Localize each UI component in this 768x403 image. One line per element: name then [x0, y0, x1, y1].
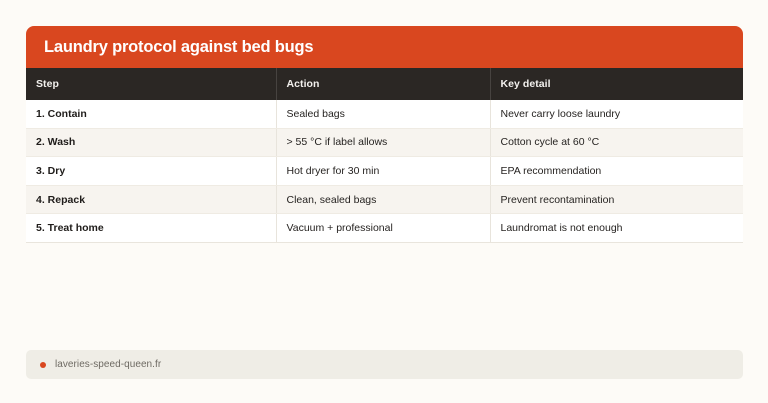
cell-step: 4. Repack [26, 185, 276, 214]
cell-key-detail: Laundromat is not enough [490, 214, 743, 243]
column-header-key-detail[interactable]: Key detail [490, 68, 743, 100]
cell-step: 2. Wash [26, 128, 276, 157]
table-head: Step Action Key detail [26, 68, 743, 100]
cell-action: > 55 °C if label allows [276, 128, 490, 157]
cell-step: 3. Dry [26, 157, 276, 186]
cell-step: 1. Contain [26, 100, 276, 128]
table-header-row: Step Action Key detail [26, 68, 743, 100]
source-domain-label[interactable]: laveries-speed-queen.fr [55, 359, 161, 370]
table-row: 4. Repack Clean, sealed bags Prevent rec… [26, 185, 743, 214]
cell-action: Hot dryer for 30 min [276, 157, 490, 186]
page-root: Laundry protocol against bed bugs Step A… [0, 0, 768, 403]
card-header: Laundry protocol against bed bugs [26, 26, 743, 68]
table-row: 2. Wash > 55 °C if label allows Cotton c… [26, 128, 743, 157]
column-header-action[interactable]: Action [276, 68, 490, 100]
cell-key-detail: Prevent recontamination [490, 185, 743, 214]
table-row: 1. Contain Sealed bags Never carry loose… [26, 100, 743, 128]
cell-key-detail: Cotton cycle at 60 °C [490, 128, 743, 157]
protocol-card: Laundry protocol against bed bugs Step A… [26, 26, 743, 243]
cell-action: Sealed bags [276, 100, 490, 128]
cell-action: Vacuum + professional [276, 214, 490, 243]
column-header-step[interactable]: Step [26, 68, 276, 100]
table-row: 5. Treat home Vacuum + professional Laun… [26, 214, 743, 243]
table-body: 1. Contain Sealed bags Never carry loose… [26, 100, 743, 242]
cell-key-detail: Never carry loose laundry [490, 100, 743, 128]
bullet-dot-icon [40, 362, 46, 368]
page-title: Laundry protocol against bed bugs [44, 39, 313, 56]
source-bar: laveries-speed-queen.fr [26, 350, 743, 379]
cell-step: 5. Treat home [26, 214, 276, 243]
cell-key-detail: EPA recommendation [490, 157, 743, 186]
protocol-table: Step Action Key detail 1. Contain Sealed… [26, 68, 743, 243]
cell-action: Clean, sealed bags [276, 185, 490, 214]
table-row: 3. Dry Hot dryer for 30 min EPA recommen… [26, 157, 743, 186]
